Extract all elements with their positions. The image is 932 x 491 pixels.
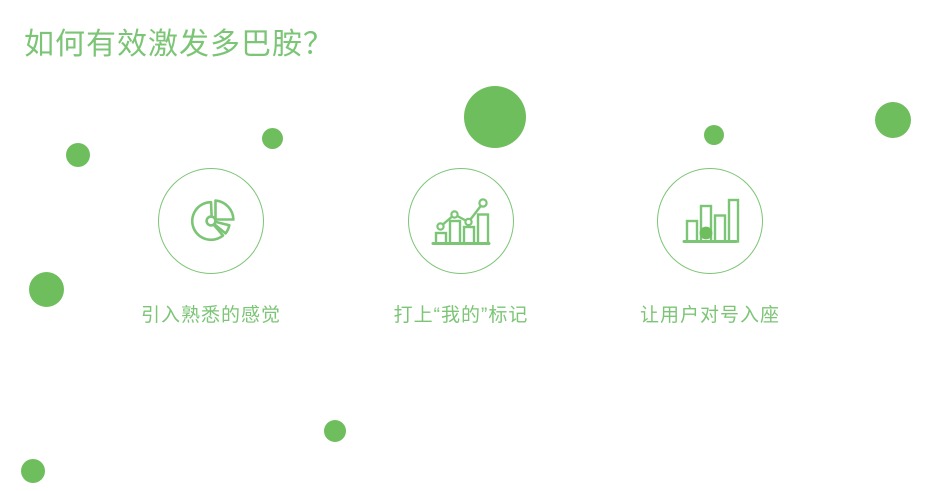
deco-dot-7: [324, 420, 346, 442]
deco-dot-4: [704, 125, 724, 145]
deco-dot-3: [262, 128, 283, 149]
icon-ring-familiar-feeling: [158, 168, 264, 274]
slide-canvas: 如何有效激发多巴胺？ 引入熟悉的感觉: [0, 0, 932, 491]
feature-label-self-identification: 让用户对号入座: [600, 303, 820, 329]
icon-ring-self-identification: [657, 168, 763, 274]
feature-label-my-mark: 打上“我的”标记: [351, 303, 571, 329]
feature-item-self-identification[interactable]: 让用户对号入座: [600, 168, 820, 329]
page-title: 如何有效激发多巴胺？: [24, 26, 334, 64]
feature-item-my-mark[interactable]: 打上“我的”标记: [351, 168, 571, 329]
feature-label-familiar-feeling: 引入熟悉的感觉: [101, 303, 321, 329]
feature-item-familiar-feeling[interactable]: 引入熟悉的感觉: [101, 168, 321, 329]
deco-dot-2: [875, 102, 911, 138]
deco-dot-5: [66, 143, 90, 167]
deco-dot-1: [464, 86, 526, 148]
deco-dot-8: [21, 459, 45, 483]
icon-ring-my-mark: [408, 168, 514, 274]
deco-dot-6: [29, 272, 64, 307]
